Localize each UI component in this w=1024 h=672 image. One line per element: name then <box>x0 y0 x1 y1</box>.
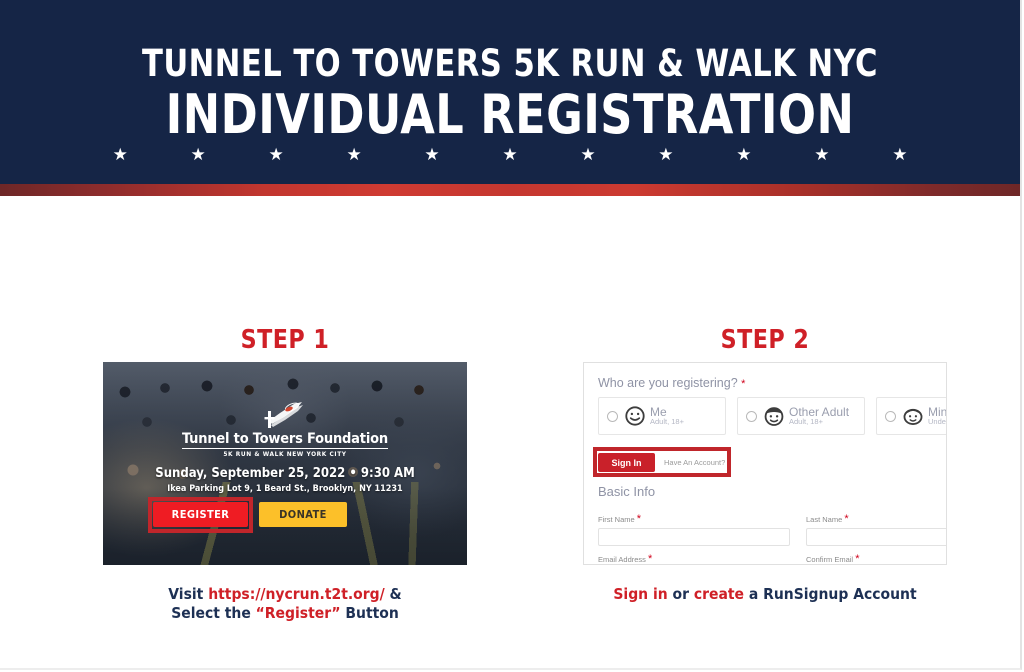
cta-button-row: REGISTER DONATE <box>153 502 347 527</box>
sign-in-button[interactable]: Sign In <box>598 453 655 472</box>
name-field-row: First Name * Last Name * <box>598 513 947 546</box>
event-date: Sunday, September 25, 2022 • 9:30 AM <box>103 466 467 481</box>
radio-other-adult[interactable] <box>746 411 757 422</box>
option-me[interactable]: Me Adult, 18+ <box>598 397 726 435</box>
email-label-text: Email Address <box>598 555 646 564</box>
basic-info-heading: Basic Info <box>598 484 655 499</box>
last-name-field-group: Last Name * <box>806 513 947 546</box>
email-required: * <box>648 553 652 565</box>
first-name-required: * <box>637 513 641 525</box>
confirm-email-field-group: Confirm Email * <box>806 553 947 565</box>
last-name-input[interactable] <box>806 528 947 546</box>
caption-register-word: “Register” <box>256 604 341 622</box>
registering-for-label: Who are you registering? * <box>598 376 745 390</box>
caption-ampersand: & <box>385 585 402 603</box>
first-name-label-text: First Name <box>598 515 635 524</box>
caption-select-text: Select the <box>171 604 255 622</box>
page-subtitle: INDIVIDUAL REGISTRATION <box>41 88 979 142</box>
option-minor[interactable]: Minor Under 18 <box>876 397 947 435</box>
first-name-label: First Name * <box>598 513 790 525</box>
caption-visit-text: Visit <box>168 585 208 603</box>
step-2-screenshot: Who are you registering? * Me Adult, 18+ <box>583 362 947 565</box>
caption-create-link[interactable]: create <box>694 585 744 603</box>
last-name-label-text: Last Name <box>806 515 842 524</box>
option-me-texts: Me Adult, 18+ <box>650 406 684 426</box>
signin-zone: Sign In Have An Account? <box>598 453 725 472</box>
required-marker: * <box>741 378 745 390</box>
radio-me[interactable] <box>607 411 618 422</box>
star-divider: ★ ★ ★ ★ ★ ★ ★ ★ ★ ★ ★ <box>0 146 1020 163</box>
header-banner: TUNNEL TO TOWERS 5K RUN & WALK NYC INDIV… <box>0 0 1020 184</box>
email-field-group: Email Address * <box>598 553 790 565</box>
first-name-field-group: First Name * <box>598 513 790 546</box>
child-face-icon <box>902 405 924 427</box>
t2t-eagle-icon <box>264 400 306 430</box>
register-button[interactable]: REGISTER <box>153 502 248 527</box>
registering-for-text: Who are you registering? <box>598 376 738 390</box>
adult-face-icon <box>763 405 785 427</box>
t2t-logo-name: Tunnel to Towers Foundation <box>182 432 388 449</box>
option-other-adult[interactable]: Other Adult Adult, 18+ <box>737 397 865 435</box>
option-minor-sub: Under 18 <box>928 418 947 426</box>
slide-canvas: TUNNEL TO TOWERS 5K RUN & WALK NYC INDIV… <box>0 0 1022 670</box>
t2t-logo: Tunnel to Towers Foundation 5K RUN & WAL… <box>103 400 467 457</box>
option-other-adult-texts: Other Adult Adult, 18+ <box>789 406 849 426</box>
step-2-column: STEP 2 Who are you registering? * Me <box>525 325 1005 604</box>
registration-url[interactable]: https://nycrun.t2t.org/ <box>208 585 385 603</box>
caption-account-text: a RunSignup Account <box>744 585 917 603</box>
photo-scrim <box>103 362 467 565</box>
radio-minor[interactable] <box>885 411 896 422</box>
have-an-account-label: Have An Account? <box>664 458 725 467</box>
confirm-email-required: * <box>855 553 859 565</box>
page-title: TUNNEL TO TOWERS 5K RUN & WALK NYC <box>41 45 979 82</box>
step-2-heading: STEP 2 <box>537 325 993 355</box>
confirm-email-label: Confirm Email * <box>806 553 947 565</box>
email-field-row: Email Address * Confirm Email * <box>598 553 947 565</box>
registrant-type-options: Me Adult, 18+ Other Adult <box>598 397 947 435</box>
email-label: Email Address * <box>598 553 790 565</box>
event-location: Ikea Parking Lot 9, 1 Beard St., Brookly… <box>103 484 467 494</box>
option-minor-texts: Minor Under 18 <box>928 406 947 426</box>
t2t-logo-tagline: 5K RUN & WALK NEW YORK CITY <box>103 451 467 458</box>
confirm-email-label-text: Confirm Email <box>806 555 853 564</box>
step-1-caption: Visit https://nycrun.t2t.org/ & Select t… <box>40 585 530 623</box>
caption-sign-in-link[interactable]: Sign in <box>613 585 667 603</box>
option-me-sub: Adult, 18+ <box>650 418 684 426</box>
step-1-column: STEP 1 Tunnel to Towers Foundation 5K RU… <box>40 325 530 623</box>
donate-button[interactable]: DONATE <box>259 502 347 527</box>
last-name-required: * <box>844 513 848 525</box>
option-other-adult-sub: Adult, 18+ <box>789 418 849 426</box>
smiley-face-icon <box>624 405 646 427</box>
caption-button-word: Button <box>341 604 399 622</box>
step-1-screenshot: Tunnel to Towers Foundation 5K RUN & WAL… <box>103 362 467 565</box>
caption-or-text: or <box>668 585 694 603</box>
last-name-label: Last Name * <box>806 513 947 525</box>
step-2-caption: Sign in or create a RunSignup Account <box>525 585 1005 604</box>
first-name-input[interactable] <box>598 528 790 546</box>
banner-red-stripe <box>0 184 1020 196</box>
step-1-heading: STEP 1 <box>52 325 518 355</box>
